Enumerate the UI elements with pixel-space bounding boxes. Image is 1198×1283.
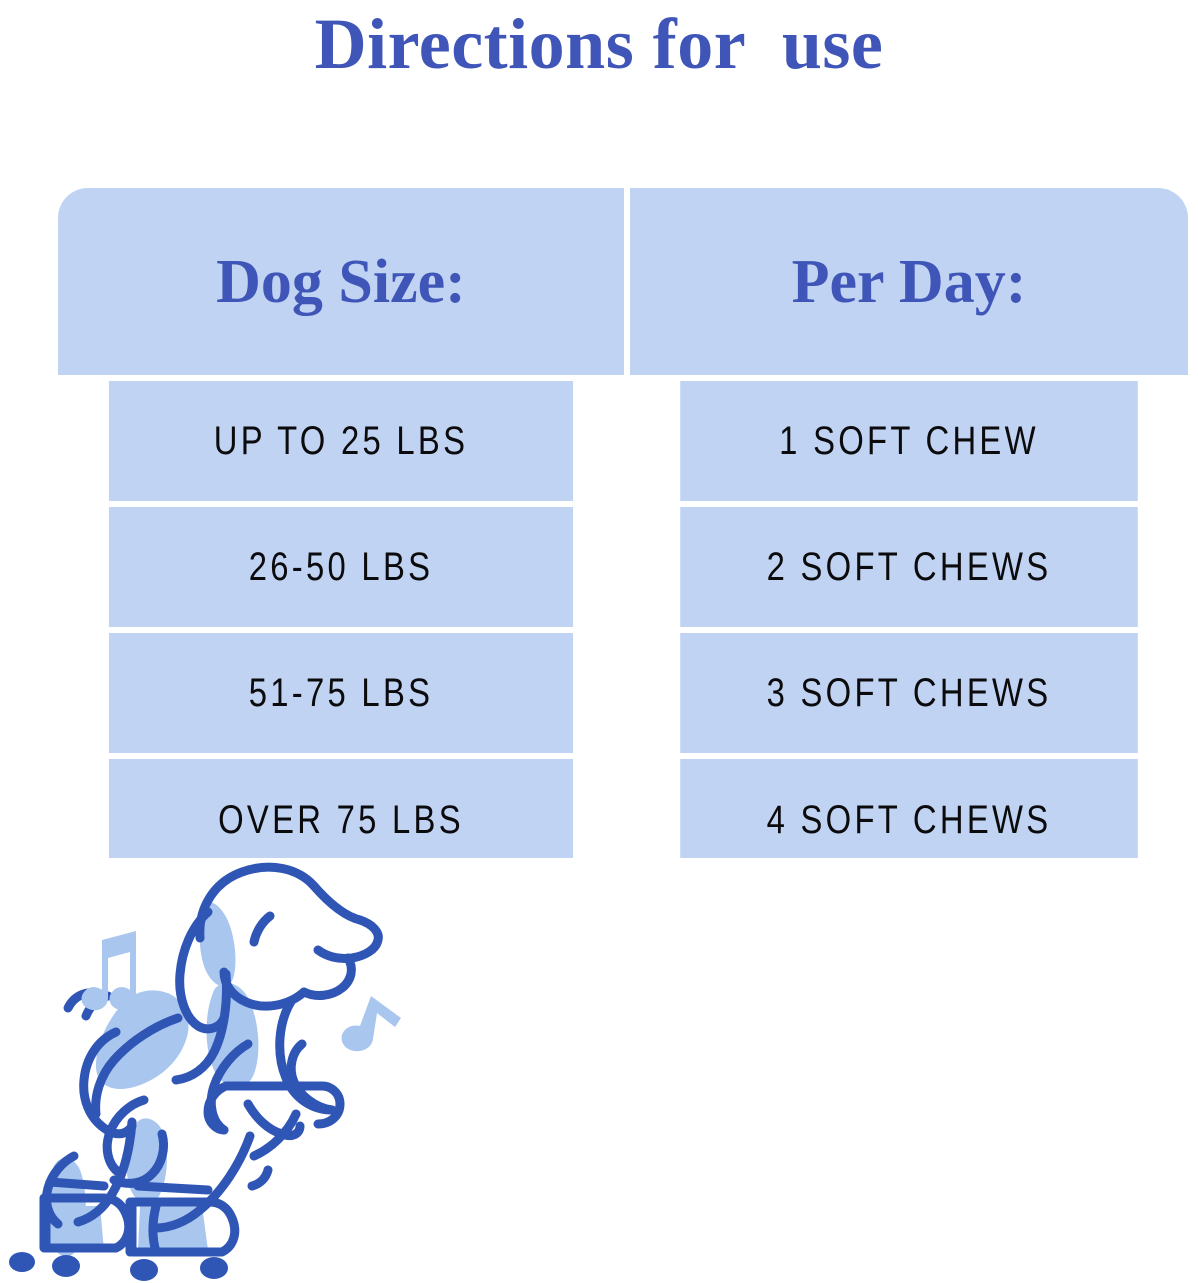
cell-per-day: 3 SOFT CHEWS bbox=[680, 633, 1138, 753]
column-header-per-day: Per Day: bbox=[630, 188, 1188, 375]
cell-per-day: 4 SOFT CHEWS bbox=[680, 759, 1138, 858]
table-row: OVER 75 LBS 4 SOFT CHEWS bbox=[58, 759, 1188, 858]
music-note-single-eighth-icon bbox=[342, 996, 401, 1051]
column-header-dog-size: Dog Size: bbox=[58, 188, 624, 375]
table-row: UP TO 25 LBS 1 SOFT CHEW bbox=[58, 381, 1188, 501]
cell-per-day: 1 SOFT CHEW bbox=[680, 381, 1138, 501]
table-row: 51-75 LBS 3 SOFT CHEWS bbox=[58, 633, 1188, 753]
cell-dog-size: OVER 75 LBS bbox=[109, 759, 573, 858]
table-header-row: Dog Size: Per Day: bbox=[58, 188, 1188, 375]
cell-dog-size: UP TO 25 LBS bbox=[109, 381, 573, 501]
cell-dog-size: 26-50 LBS bbox=[109, 507, 573, 627]
cell-dog-size: 51-75 LBS bbox=[109, 633, 573, 753]
table-row: 26-50 LBS 2 SOFT CHEWS bbox=[58, 507, 1188, 627]
cell-per-day: 2 SOFT CHEWS bbox=[680, 507, 1138, 627]
dancing-dog-illustration bbox=[8, 862, 428, 1283]
dosage-table: Dog Size: Per Day: UP TO 25 LBS 1 SOFT C… bbox=[58, 188, 1188, 858]
page-title: Directions for use bbox=[0, 2, 1198, 86]
